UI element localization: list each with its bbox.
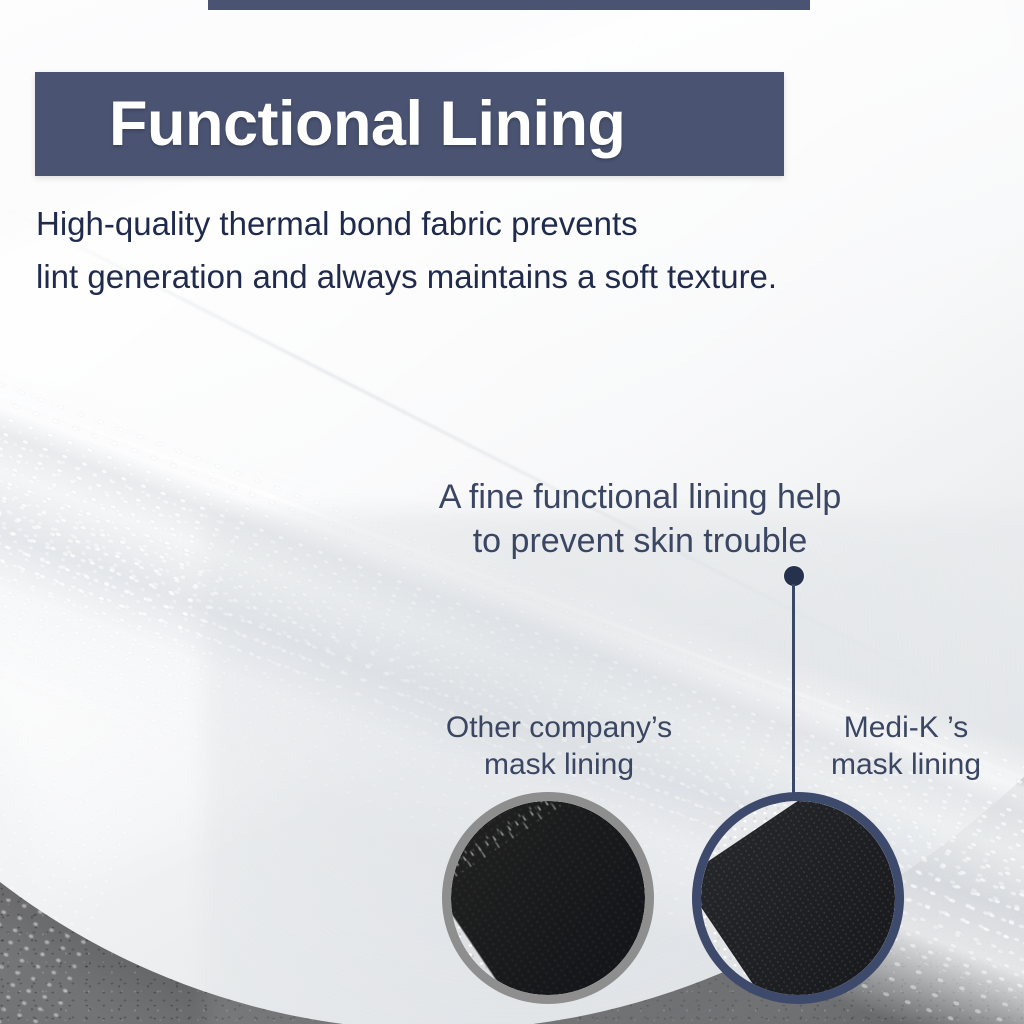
right-comparison-label: Medi-K ’s mask lining	[786, 710, 1024, 783]
left-label-line-2: mask lining	[404, 747, 714, 784]
left-label-line-1: Other company’s	[404, 710, 714, 747]
subtitle-text: High-quality thermal bond fabric prevent…	[36, 198, 916, 304]
subtitle-line-1: High-quality thermal bond fabric prevent…	[36, 198, 916, 251]
callout-line-2: to prevent skin trouble	[380, 520, 900, 564]
callout-line-1: A fine functional lining help	[380, 476, 900, 520]
top-partial-banner-strip	[208, 0, 810, 10]
other-company-lining-image	[451, 801, 645, 995]
callout-headline: A fine functional lining help to prevent…	[380, 476, 900, 563]
other-company-lining-circle	[442, 792, 654, 1004]
title-banner: Functional Lining	[35, 72, 784, 176]
subtitle-line-2: lint generation and always maintains a s…	[36, 251, 916, 304]
right-label-line-2: mask lining	[786, 747, 1024, 784]
leader-dot-icon	[784, 566, 804, 586]
medi-k-lining-image	[701, 801, 895, 995]
medi-k-lining-circle	[692, 792, 904, 1004]
right-label-line-1: Medi-K ’s	[786, 710, 1024, 747]
product-feature-slide: Functional Lining High-quality thermal b…	[0, 0, 1024, 1024]
left-comparison-label: Other company’s mask lining	[404, 710, 714, 783]
page-title: Functional Lining	[35, 93, 625, 156]
